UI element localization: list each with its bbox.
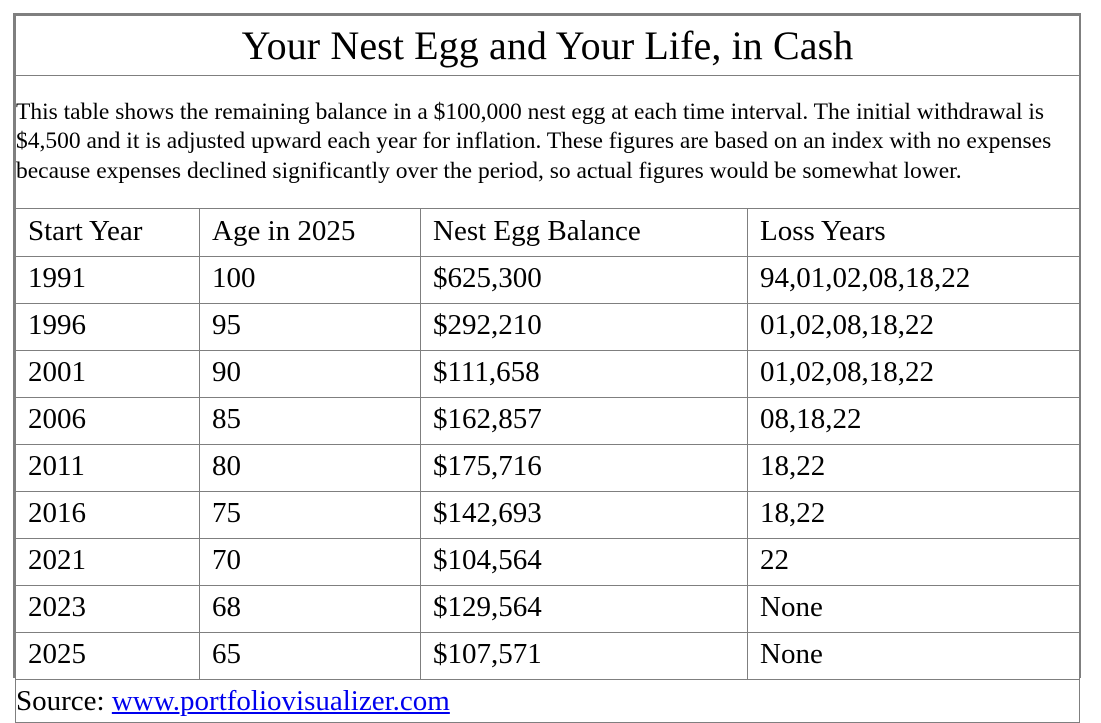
table-container: Your Nest Egg and Your Life, in Cash Thi… (13, 13, 1081, 678)
description-cell: This table shows the remaining balance i… (16, 76, 1080, 209)
cell-start-year: 2011 (16, 445, 200, 492)
column-header-nest-egg-balance: Nest Egg Balance (421, 209, 748, 257)
cell-age: 85 (200, 398, 421, 445)
cell-loss-years: 01,02,08,18,22 (748, 351, 1080, 398)
table-row: 2023 68 $129,564 None (16, 586, 1080, 633)
cell-age: 80 (200, 445, 421, 492)
cell-age: 90 (200, 351, 421, 398)
cell-age: 70 (200, 539, 421, 586)
table-row: 2025 65 $107,571 None (16, 633, 1080, 680)
source-link[interactable]: www.portfoliovisualizer.com (112, 685, 450, 717)
cell-start-year: 2021 (16, 539, 200, 586)
cell-loss-years: 01,02,08,18,22 (748, 304, 1080, 351)
cell-age: 65 (200, 633, 421, 680)
cell-age: 75 (200, 492, 421, 539)
cell-age: 95 (200, 304, 421, 351)
table-row: 2011 80 $175,716 18,22 (16, 445, 1080, 492)
cell-start-year: 1996 (16, 304, 200, 351)
source-label: Source: (16, 685, 105, 717)
cell-start-year: 2025 (16, 633, 200, 680)
cell-balance: $162,857 (421, 398, 748, 445)
cell-balance: $625,300 (421, 257, 748, 304)
cell-loss-years: 22 (748, 539, 1080, 586)
page-title: Your Nest Egg and Your Life, in Cash (16, 16, 1080, 76)
column-header-start-year: Start Year (16, 209, 200, 257)
cell-balance: $175,716 (421, 445, 748, 492)
cell-age: 100 (200, 257, 421, 304)
cell-start-year: 2001 (16, 351, 200, 398)
source-space (105, 685, 112, 717)
cell-start-year: 1991 (16, 257, 200, 304)
cell-balance: $111,658 (421, 351, 748, 398)
cell-balance: $107,571 (421, 633, 748, 680)
table-row: 2021 70 $104,564 22 (16, 539, 1080, 586)
nest-egg-table: Your Nest Egg and Your Life, in Cash Thi… (15, 15, 1080, 723)
cell-start-year: 2006 (16, 398, 200, 445)
cell-loss-years: None (748, 633, 1080, 680)
cell-loss-years: 08,18,22 (748, 398, 1080, 445)
cell-loss-years: None (748, 586, 1080, 633)
cell-balance: $104,564 (421, 539, 748, 586)
cell-start-year: 2016 (16, 492, 200, 539)
table-row: 2001 90 $111,658 01,02,08,18,22 (16, 351, 1080, 398)
column-header-loss-years: Loss Years (748, 209, 1080, 257)
cell-start-year: 2023 (16, 586, 200, 633)
table-row: 2016 75 $142,693 18,22 (16, 492, 1080, 539)
cell-loss-years: 94,01,02,08,18,22 (748, 257, 1080, 304)
title-row: Your Nest Egg and Your Life, in Cash (16, 16, 1080, 76)
table-row: 1991 100 $625,300 94,01,02,08,18,22 (16, 257, 1080, 304)
description-text: This table shows the remaining balance i… (16, 98, 1079, 186)
cell-balance: $142,693 (421, 492, 748, 539)
cell-age: 68 (200, 586, 421, 633)
source-cell: Source: www.portfoliovisualizer.com (16, 680, 1080, 723)
cell-balance: $129,564 (421, 586, 748, 633)
cell-loss-years: 18,22 (748, 445, 1080, 492)
column-header-age-in-2025: Age in 2025 (200, 209, 421, 257)
table-header-row: Start Year Age in 2025 Nest Egg Balance … (16, 209, 1080, 257)
description-row: This table shows the remaining balance i… (16, 76, 1080, 209)
table-row: 1996 95 $292,210 01,02,08,18,22 (16, 304, 1080, 351)
cell-balance: $292,210 (421, 304, 748, 351)
table-row: 2006 85 $162,857 08,18,22 (16, 398, 1080, 445)
source-row: Source: www.portfoliovisualizer.com (16, 680, 1080, 723)
cell-loss-years: 18,22 (748, 492, 1080, 539)
